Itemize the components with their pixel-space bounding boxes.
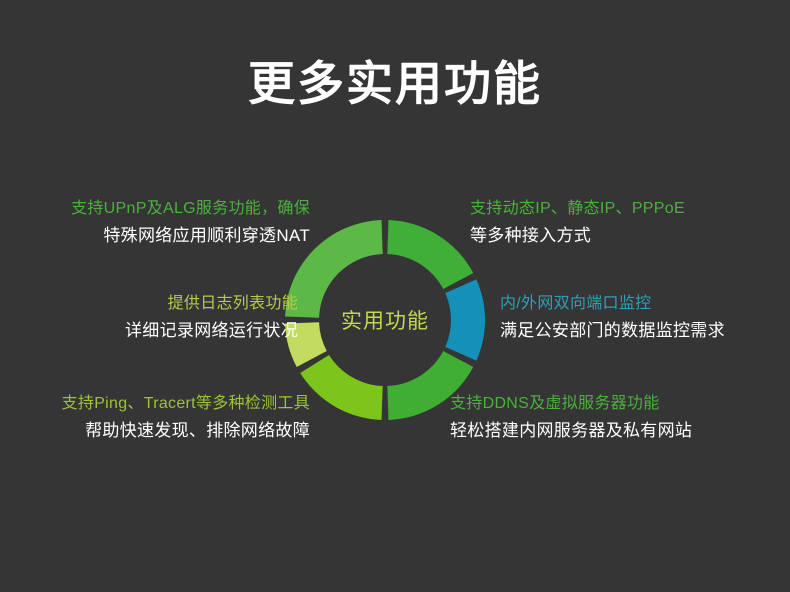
callout-subtitle: 轻松搭建内网服务器及私有网站 (450, 418, 750, 443)
slide-canvas: 更多实用功能 实用功能 支持UPnP及ALG服务功能，确保 特殊网络应用顺利穿透… (0, 0, 790, 592)
callout-upnp-alg: 支持UPnP及ALG服务功能，确保 特殊网络应用顺利穿透NAT (20, 198, 310, 248)
donut-chart-svg (283, 218, 487, 422)
callout-title: 内/外网双向端口监控 (500, 293, 780, 315)
callout-ping-tools: 支持Ping、Tracert等多种检测工具 帮助快速发现、排除网络故障 (10, 393, 310, 443)
callout-wan-access: 支持动态IP、静态IP、PPPoE 等多种接入方式 (470, 198, 770, 248)
page-title: 更多实用功能 (0, 58, 790, 110)
callout-ddns-server: 支持DDNS及虚拟服务器功能 轻松搭建内网服务器及私有网站 (450, 393, 750, 443)
callout-subtitle: 满足公安部门的数据监控需求 (500, 318, 780, 343)
callout-title: 支持DDNS及虚拟服务器功能 (450, 393, 750, 415)
callout-port-monitor: 内/外网双向端口监控 满足公安部门的数据监控需求 (500, 293, 780, 343)
callout-subtitle: 帮助快速发现、排除网络故障 (10, 418, 310, 443)
callout-subtitle: 详细记录网络运行状况 (20, 318, 298, 343)
donut-chart: 实用功能 (283, 218, 487, 422)
callout-title: 提供日志列表功能 (20, 293, 298, 315)
callout-title: 支持Ping、Tracert等多种检测工具 (10, 393, 310, 415)
callout-title: 支持动态IP、静态IP、PPPoE (470, 198, 770, 220)
callout-subtitle: 特殊网络应用顺利穿透NAT (20, 223, 310, 248)
callout-log-list: 提供日志列表功能 详细记录网络运行状况 (20, 293, 298, 343)
donut-segment-port-mon (445, 279, 485, 360)
donut-segment-ping-tools (300, 355, 383, 420)
callout-title: 支持UPnP及ALG服务功能，确保 (20, 198, 310, 220)
donut-segment-wan-access (387, 220, 473, 289)
callout-subtitle: 等多种接入方式 (470, 223, 770, 248)
